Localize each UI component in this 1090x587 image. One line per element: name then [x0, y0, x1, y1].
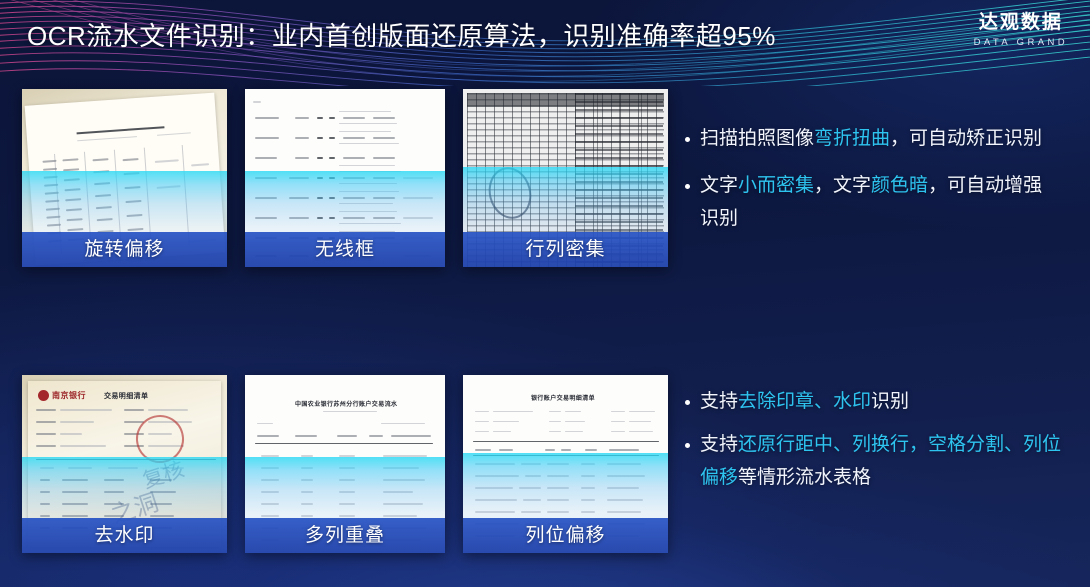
plain-text: 识别 [871, 391, 909, 412]
thumbnail-caption: 去水印 [22, 518, 227, 553]
thumbnail-caption: 列位偏移 [463, 518, 668, 553]
bullet-list-bottom: 支持去除印章、水印识别 支持还原行距中、列换行，空格分割、列位偏移等情形流水表格 [683, 385, 1063, 504]
thumbnail-multi-column-overlap[interactable]: 中国农业银行苏州分行账户交易流水 [245, 375, 445, 553]
plain-text: 文字 [700, 175, 738, 196]
brand-logo: 达观数据 DATA GRAND [974, 12, 1068, 48]
page-title: OCR流水文件识别：业内首创版面还原算法，识别准确率超95% [27, 16, 776, 53]
thumbnail-row-bottom: 南京银行 交易明细清单 [22, 375, 668, 553]
bullet-list-top: 扫描拍照图像弯折扭曲，可自动矫正识别 文字小而密集，文字颜色暗，可自动增强识别 [683, 122, 1053, 249]
bank-logo: 南京银行 [38, 390, 86, 401]
bullet-item: 支持还原行距中、列换行，空格分割、列位偏移等情形流水表格 [683, 428, 1063, 494]
highlighted-text: 颜色暗 [871, 175, 928, 196]
plain-text: 等情形流水表格 [738, 467, 871, 488]
thumbnail-row-top: 旋转偏移 [22, 89, 668, 267]
bullet-item: 扫描拍照图像弯折扭曲，可自动矫正识别 [683, 122, 1053, 155]
thumbnail-caption: 旋转偏移 [22, 232, 227, 267]
logo-english-name: DATA GRAND [974, 37, 1068, 48]
thumbnail-caption: 行列密集 [463, 232, 668, 267]
thumbnail-borderless-table[interactable]: 无线框 [245, 89, 445, 267]
doc-title: 银行账户交易明细清单 [531, 393, 595, 402]
plain-text: 支持 [700, 391, 738, 412]
bullet-item: 支持去除印章、水印识别 [683, 385, 1063, 418]
thumbnail-remove-watermark[interactable]: 南京银行 交易明细清单 [22, 375, 227, 553]
doc-title: 交易明细清单 [104, 391, 148, 401]
logo-chinese-name: 达观数据 [974, 12, 1068, 34]
highlighted-text: 小而密集 [738, 175, 814, 196]
highlighted-text: 去除印章、水印 [738, 391, 871, 412]
thumbnail-rotation-offset[interactable]: 旋转偏移 [22, 89, 227, 267]
doc-title: 中国农业银行苏州分行账户交易流水 [295, 399, 397, 408]
bank-name: 南京银行 [52, 390, 86, 401]
slide-header: OCR流水文件识别：业内首创版面还原算法，识别准确率超95% 达观数据 DATA… [0, 0, 1090, 72]
plain-text: 扫描拍照图像 [700, 128, 814, 149]
highlighted-text: 弯折扭曲 [814, 128, 890, 149]
thumbnail-column-shift[interactable]: 银行账户交易明细清单 [463, 375, 668, 553]
plain-text: ，可自动矫正识别 [890, 128, 1042, 149]
bullet-item: 文字小而密集，文字颜色暗，可自动增强识别 [683, 169, 1053, 235]
thumbnail-caption: 无线框 [245, 232, 445, 267]
plain-text: 支持 [700, 434, 738, 455]
slide-root: OCR流水文件识别：业内首创版面还原算法，识别准确率超95% 达观数据 DATA… [0, 0, 1090, 587]
plain-text: ，文字 [814, 175, 871, 196]
thumbnail-caption: 多列重叠 [245, 518, 445, 553]
thumbnail-dense-rows-columns[interactable]: 行列密集 [463, 89, 668, 267]
